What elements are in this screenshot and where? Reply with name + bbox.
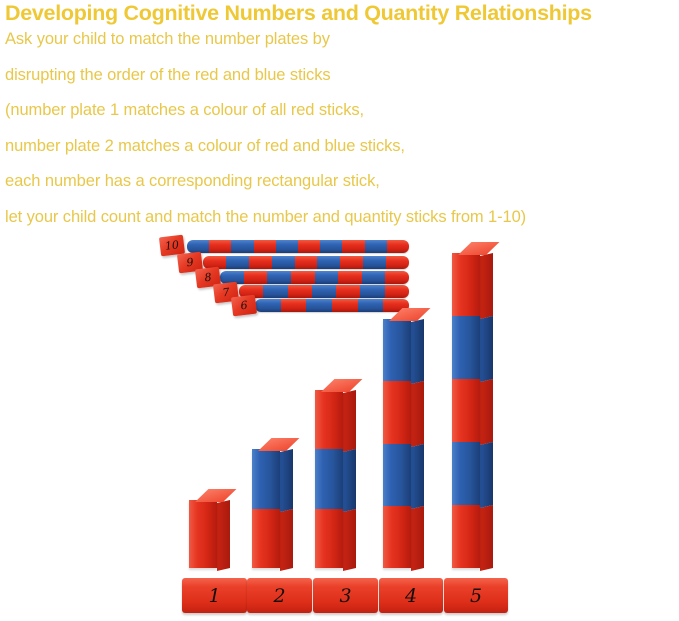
- tower-segment-blue: [383, 319, 411, 381]
- rod-segment-blue: [363, 256, 386, 269]
- rod-body: [220, 271, 409, 284]
- tower-segment-red: [252, 509, 280, 569]
- tower-front-face: [189, 500, 217, 568]
- tower-side-face: [411, 319, 424, 571]
- counting-rod-8: [220, 271, 409, 284]
- rod-segment-blue: [267, 271, 291, 284]
- tower-front-face: [452, 253, 480, 568]
- rod-segment-blue: [312, 285, 336, 298]
- rod-body: [239, 285, 409, 298]
- tower-front-face: [315, 390, 343, 568]
- tower-segment-blue: [315, 449, 343, 508]
- tower-segment-red: [383, 381, 411, 443]
- tower-side-segment-blue: [343, 449, 356, 511]
- rod-segment-blue: [320, 240, 342, 253]
- tower-segment-red: [452, 505, 480, 568]
- rod-segment-blue: [360, 285, 384, 298]
- rod-segment-red: [340, 256, 363, 269]
- instruction-line-2: disrupting the order of the red and blue…: [5, 66, 331, 85]
- bottom-number-plate-2: 2: [247, 578, 312, 613]
- instruction-line-5: each number has a corresponding rectangu…: [5, 172, 380, 191]
- tower-side-segment-red: [411, 506, 424, 571]
- tower-side-segment-red: [280, 508, 293, 571]
- rod-segment-blue: [315, 271, 339, 284]
- tower-side-segment-red: [480, 505, 493, 571]
- tower-segment-blue: [452, 316, 480, 379]
- rod-body: [203, 256, 409, 269]
- tower-side-face: [343, 390, 356, 571]
- instruction-line-6: let your child count and match the numbe…: [5, 208, 526, 227]
- rod-segment-blue: [272, 256, 295, 269]
- tower-side-face: [280, 449, 293, 571]
- quantity-tower-1: [189, 500, 217, 568]
- tower-top-face: [258, 438, 299, 451]
- tower-segment-red: [452, 379, 480, 442]
- rod-segment-blue: [226, 256, 249, 269]
- tower-side-segment-blue: [411, 443, 424, 508]
- tower-segment-blue: [452, 442, 480, 505]
- tower-top-face: [195, 489, 236, 502]
- product-infographic: Developing Cognitive Numbers and Quantit…: [0, 0, 679, 621]
- rod-body: [255, 299, 409, 312]
- tower-segment-blue: [383, 444, 411, 506]
- rod-segment-blue: [317, 256, 340, 269]
- rod-segment-blue: [263, 285, 287, 298]
- tower-segment-red: [452, 253, 480, 316]
- rod-segment-red: [209, 240, 231, 253]
- tower-segment-red: [189, 500, 217, 568]
- rod-segment-blue: [276, 240, 298, 253]
- bottom-number-plate-1: 1: [182, 578, 247, 613]
- rod-segment-red: [298, 240, 320, 253]
- rod-segment-red: [342, 240, 364, 253]
- tower-side-face: [217, 500, 230, 571]
- bottom-number-plate-5: 5: [444, 578, 508, 613]
- rod-segment-blue: [306, 299, 332, 312]
- rod-segment-blue: [358, 299, 384, 312]
- tower-side-segment-red: [343, 390, 356, 452]
- rod-body: [187, 240, 409, 253]
- quantity-tower-3: [315, 390, 343, 568]
- tower-side-segment-red: [343, 509, 356, 571]
- counting-rod-10: [187, 240, 409, 253]
- tower-side-segment-red: [480, 379, 493, 445]
- rod-segment-red: [249, 256, 272, 269]
- tower-side-segment-red: [217, 500, 230, 571]
- tower-front-face: [383, 319, 411, 568]
- counting-rod-6: [255, 299, 409, 312]
- quantity-tower-5: [452, 253, 480, 568]
- tower-side-segment-blue: [480, 442, 493, 508]
- tower-front-face: [252, 449, 280, 568]
- counting-rod-9: [203, 256, 409, 269]
- instruction-line-1: Ask your child to match the number plate…: [5, 30, 330, 49]
- quantity-tower-4: [383, 319, 411, 568]
- tower-side-segment-red: [411, 381, 424, 446]
- page-title: Developing Cognitive Numbers and Quantit…: [5, 1, 592, 26]
- rod-segment-red: [385, 285, 409, 298]
- bottom-number-plate-4: 4: [379, 578, 443, 613]
- tower-top-face: [458, 242, 499, 255]
- rod-segment-red: [332, 299, 358, 312]
- tower-side-face: [480, 253, 493, 571]
- number-plate-6: 6: [231, 295, 257, 317]
- rod-segment-red: [385, 271, 409, 284]
- rod-segment-blue: [231, 240, 253, 253]
- rod-segment-red: [295, 256, 318, 269]
- rod-segment-red: [281, 299, 307, 312]
- tower-side-segment-blue: [480, 316, 493, 382]
- rod-segment-red: [387, 240, 409, 253]
- rod-segment-red: [338, 271, 362, 284]
- rod-segment-red: [291, 271, 315, 284]
- tower-side-segment-red: [480, 253, 493, 319]
- rod-segment-blue: [362, 271, 386, 284]
- rod-segment-red: [336, 285, 360, 298]
- rod-segment-red: [288, 285, 312, 298]
- counting-rod-7: [239, 285, 409, 298]
- instruction-line-3: (number plate 1 matches a colour of all …: [5, 101, 364, 120]
- instruction-line-4: number plate 2 matches a colour of red a…: [5, 137, 405, 156]
- tower-top-face: [321, 379, 362, 392]
- rod-segment-red: [254, 240, 276, 253]
- tower-segment-red: [315, 509, 343, 568]
- rod-segment-red: [386, 256, 409, 269]
- tower-side-segment-blue: [280, 449, 293, 512]
- rod-segment-blue: [255, 299, 281, 312]
- tower-segment-red: [383, 506, 411, 568]
- rod-segment-blue: [365, 240, 387, 253]
- quantity-tower-2: [252, 449, 280, 568]
- rod-segment-red: [244, 271, 268, 284]
- tower-side-segment-blue: [411, 319, 424, 384]
- tower-segment-blue: [252, 449, 280, 509]
- tower-segment-red: [315, 390, 343, 449]
- bottom-number-plate-3: 3: [313, 578, 378, 613]
